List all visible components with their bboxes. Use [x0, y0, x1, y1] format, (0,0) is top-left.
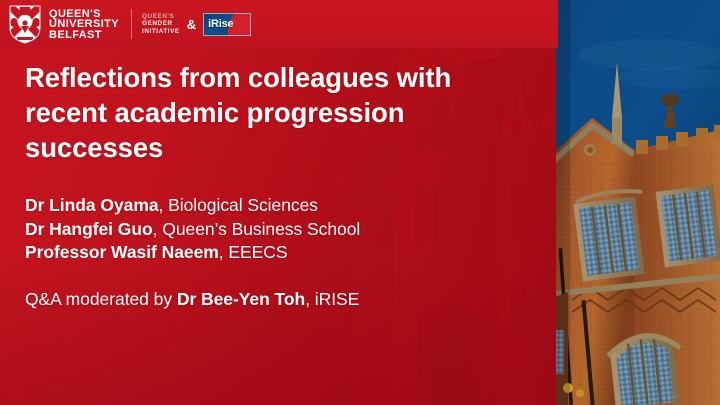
- irise-logo: iRise: [203, 13, 251, 36]
- speaker-row: Dr Hangfei Guo, Queen’s Business School: [25, 218, 535, 242]
- slide-title: Reflections from colleagues with recent …: [25, 60, 535, 165]
- speaker-row: Professor Wasif Naeem, EEECS: [25, 241, 535, 265]
- speaker-separator: ,: [219, 242, 229, 262]
- speaker-list: Dr Linda Oyama, Biological Sciences Dr H…: [25, 194, 535, 265]
- speaker-affiliation: Biological Sciences: [168, 195, 318, 215]
- building-photograph: [556, 0, 720, 405]
- qa-suffix: , iRISE: [305, 289, 359, 309]
- wordmark-line-3: BELFAST: [49, 30, 119, 41]
- header-divider: [131, 9, 132, 39]
- presentation-slide: QUEEN'S UNIVERSITY BELFAST QUEEN'S GENDE…: [0, 0, 720, 405]
- speaker-separator: ,: [153, 219, 163, 239]
- ampersand-separator: &: [187, 17, 196, 32]
- red-title-panel: QUEEN'S UNIVERSITY BELFAST QUEEN'S GENDE…: [0, 0, 558, 405]
- speaker-row: Dr Linda Oyama, Biological Sciences: [25, 194, 535, 218]
- qgi-line-3: INITIATIVE: [142, 28, 180, 36]
- speaker-affiliation: EEECS: [228, 242, 287, 262]
- qgi-line-2: GENDER: [142, 20, 180, 28]
- queens-university-wordmark: QUEEN'S UNIVERSITY BELFAST: [49, 8, 119, 41]
- speaker-separator: ,: [159, 195, 169, 215]
- speaker-name: Professor Wasif Naeem: [25, 242, 219, 262]
- qa-moderator-name: Dr Bee-Yen Toh: [177, 289, 305, 309]
- irise-logo-label: iRise: [208, 17, 233, 31]
- slide-content: Reflections from colleagues with recent …: [25, 60, 535, 311]
- queens-gender-initiative-logo: QUEEN'S GENDER INITIATIVE: [142, 13, 180, 36]
- speaker-name: Dr Hangfei Guo: [25, 219, 153, 239]
- slide-header: QUEEN'S UNIVERSITY BELFAST QUEEN'S GENDE…: [0, 0, 558, 48]
- qgi-line-1: QUEEN'S: [142, 13, 180, 21]
- queens-university-crest-icon: [8, 4, 42, 44]
- qa-prefix: Q&A moderated by: [25, 289, 177, 309]
- qa-moderator-line: Q&A moderated by Dr Bee-Yen Toh, iRISE: [25, 288, 535, 312]
- speaker-affiliation: Queen’s Business School: [162, 219, 360, 239]
- speaker-name: Dr Linda Oyama: [25, 195, 159, 215]
